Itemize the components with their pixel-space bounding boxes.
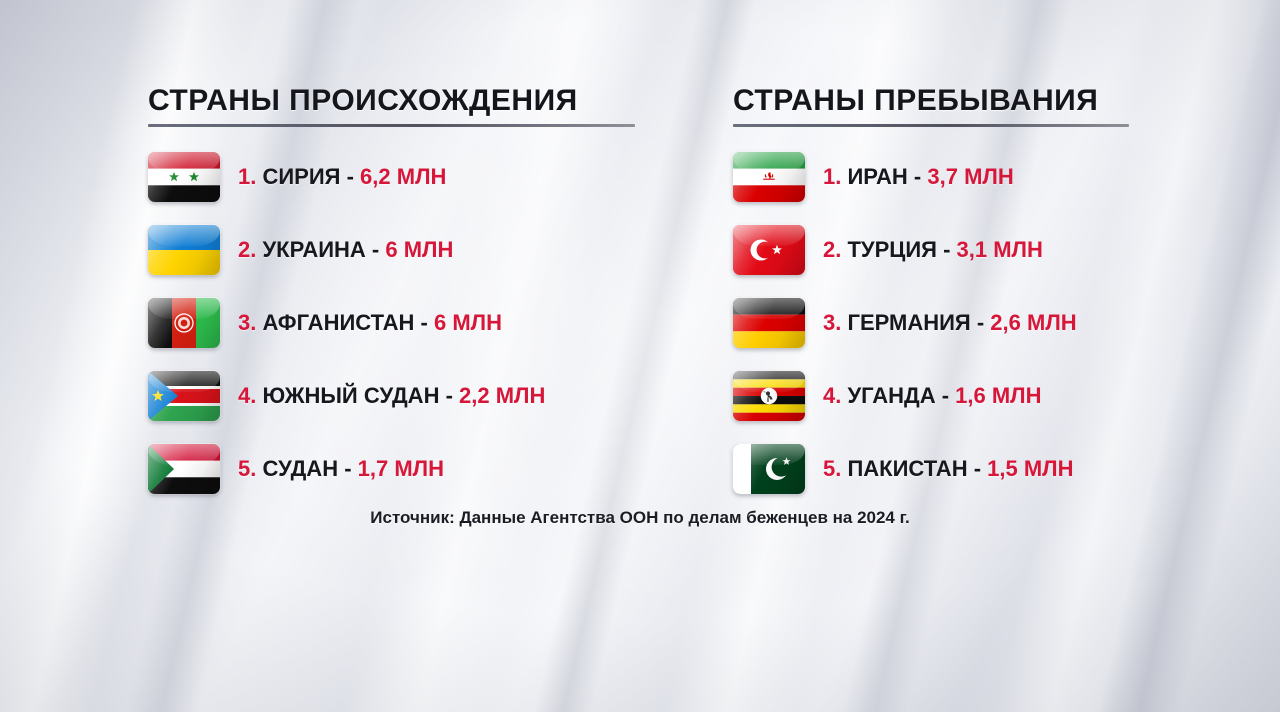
- flag-syria-icon: [148, 152, 220, 202]
- row-rank: 1.: [823, 164, 841, 189]
- row-country-name: ГЕРМАНИЯ: [841, 310, 976, 335]
- row-dash: -: [372, 237, 385, 262]
- row-label: 1. СИРИЯ - 6,2 МЛН: [238, 164, 446, 190]
- row-country-name: УГАНДА: [841, 383, 941, 408]
- row-country-name: СУДАН: [256, 456, 344, 481]
- row-dash: -: [977, 310, 990, 335]
- row-label: 2. ТУРЦИЯ - 3,1 МЛН: [823, 237, 1043, 263]
- flag-sudan-icon: [148, 444, 220, 494]
- row-value: 3,7 МЛН: [927, 164, 1013, 189]
- row-rank: 4.: [823, 383, 841, 408]
- row-value: 1,7 МЛН: [358, 456, 444, 481]
- row-dash: -: [347, 164, 360, 189]
- source-attribution: Источник: Данные Агентства ООН по делам …: [0, 508, 1280, 528]
- row-rank: 3.: [238, 310, 256, 335]
- row-value: 2,2 МЛН: [459, 383, 545, 408]
- row-rank: 2.: [823, 237, 841, 262]
- table-row: 2. УКРАИНА - 6 МЛН: [148, 213, 668, 286]
- row-rank: 1.: [238, 164, 256, 189]
- row-dash: -: [974, 456, 987, 481]
- row-dash: -: [421, 310, 434, 335]
- flag-south-sudan-icon: [148, 371, 220, 421]
- row-country-name: АФГАНИСТАН: [256, 310, 420, 335]
- table-row: 2. ТУРЦИЯ - 3,1 МЛН: [733, 213, 1143, 286]
- row-label: 5. ПАКИСТАН - 1,5 МЛН: [823, 456, 1074, 482]
- row-label: 4. ЮЖНЫЙ СУДАН - 2,2 МЛН: [238, 383, 545, 409]
- origin-rows-list: 1. СИРИЯ - 6,2 МЛН2. УКРАИНА - 6 МЛН3. А…: [148, 140, 668, 505]
- row-label: 5. СУДАН - 1,7 МЛН: [238, 456, 444, 482]
- row-rank: 5.: [823, 456, 841, 481]
- table-row: 3. АФГАНИСТАН - 6 МЛН: [148, 286, 668, 359]
- row-country-name: ПАКИСТАН: [841, 456, 973, 481]
- flag-iran-icon: [733, 152, 805, 202]
- column-title-asylum: СТРАНЫ ПРЕБЫВАНИЯ: [733, 86, 1143, 116]
- row-dash: -: [344, 456, 357, 481]
- row-label: 2. УКРАИНА - 6 МЛН: [238, 237, 453, 263]
- table-row: 5. ПАКИСТАН - 1,5 МЛН: [733, 432, 1143, 505]
- flag-uganda-icon: [733, 371, 805, 421]
- row-label: 3. АФГАНИСТАН - 6 МЛН: [238, 310, 502, 336]
- row-country-name: ТУРЦИЯ: [841, 237, 943, 262]
- flag-afghanistan-icon: [148, 298, 220, 348]
- row-value: 6 МЛН: [434, 310, 502, 335]
- row-label: 4. УГАНДА - 1,6 МЛН: [823, 383, 1042, 409]
- column-title-origin: СТРАНЫ ПРОИСХОЖДЕНИЯ: [148, 86, 668, 116]
- row-rank: 3.: [823, 310, 841, 335]
- row-country-name: СИРИЯ: [256, 164, 346, 189]
- row-dash: -: [914, 164, 927, 189]
- row-value: 3,1 МЛН: [957, 237, 1043, 262]
- column-title-underline: [733, 124, 1129, 127]
- column-countries-of-asylum: СТРАНЫ ПРЕБЫВАНИЯ 1. ИРАН - 3,7 МЛН2. ТУ…: [733, 86, 1143, 505]
- row-dash: -: [943, 237, 956, 262]
- table-row: 4. ЮЖНЫЙ СУДАН - 2,2 МЛН: [148, 359, 668, 432]
- row-dash: -: [446, 383, 459, 408]
- infographic-content: СТРАНЫ ПРОИСХОЖДЕНИЯ 1. СИРИЯ - 6,2 МЛН2…: [0, 0, 1280, 712]
- row-label: 1. ИРАН - 3,7 МЛН: [823, 164, 1014, 190]
- row-country-name: УКРАИНА: [256, 237, 372, 262]
- table-row: 5. СУДАН - 1,7 МЛН: [148, 432, 668, 505]
- flag-turkey-icon: [733, 225, 805, 275]
- row-rank: 4.: [238, 383, 256, 408]
- row-value: 2,6 МЛН: [990, 310, 1076, 335]
- flag-pakistan-icon: [733, 444, 805, 494]
- table-row: 1. СИРИЯ - 6,2 МЛН: [148, 140, 668, 213]
- row-country-name: ИРАН: [841, 164, 914, 189]
- row-value: 6,2 МЛН: [360, 164, 446, 189]
- row-rank: 5.: [238, 456, 256, 481]
- table-row: 3. ГЕРМАНИЯ - 2,6 МЛН: [733, 286, 1143, 359]
- row-value: 1,5 МЛН: [987, 456, 1073, 481]
- row-value: 6 МЛН: [385, 237, 453, 262]
- table-row: 1. ИРАН - 3,7 МЛН: [733, 140, 1143, 213]
- row-country-name: ЮЖНЫЙ СУДАН: [256, 383, 445, 408]
- asylum-rows-list: 1. ИРАН - 3,7 МЛН2. ТУРЦИЯ - 3,1 МЛН3. Г…: [733, 140, 1143, 505]
- column-title-underline: [148, 124, 635, 127]
- row-dash: -: [942, 383, 955, 408]
- flag-germany-icon: [733, 298, 805, 348]
- column-countries-of-origin: СТРАНЫ ПРОИСХОЖДЕНИЯ 1. СИРИЯ - 6,2 МЛН2…: [148, 86, 668, 505]
- row-rank: 2.: [238, 237, 256, 262]
- flag-ukraine-icon: [148, 225, 220, 275]
- row-value: 1,6 МЛН: [955, 383, 1041, 408]
- row-label: 3. ГЕРМАНИЯ - 2,6 МЛН: [823, 310, 1077, 336]
- table-row: 4. УГАНДА - 1,6 МЛН: [733, 359, 1143, 432]
